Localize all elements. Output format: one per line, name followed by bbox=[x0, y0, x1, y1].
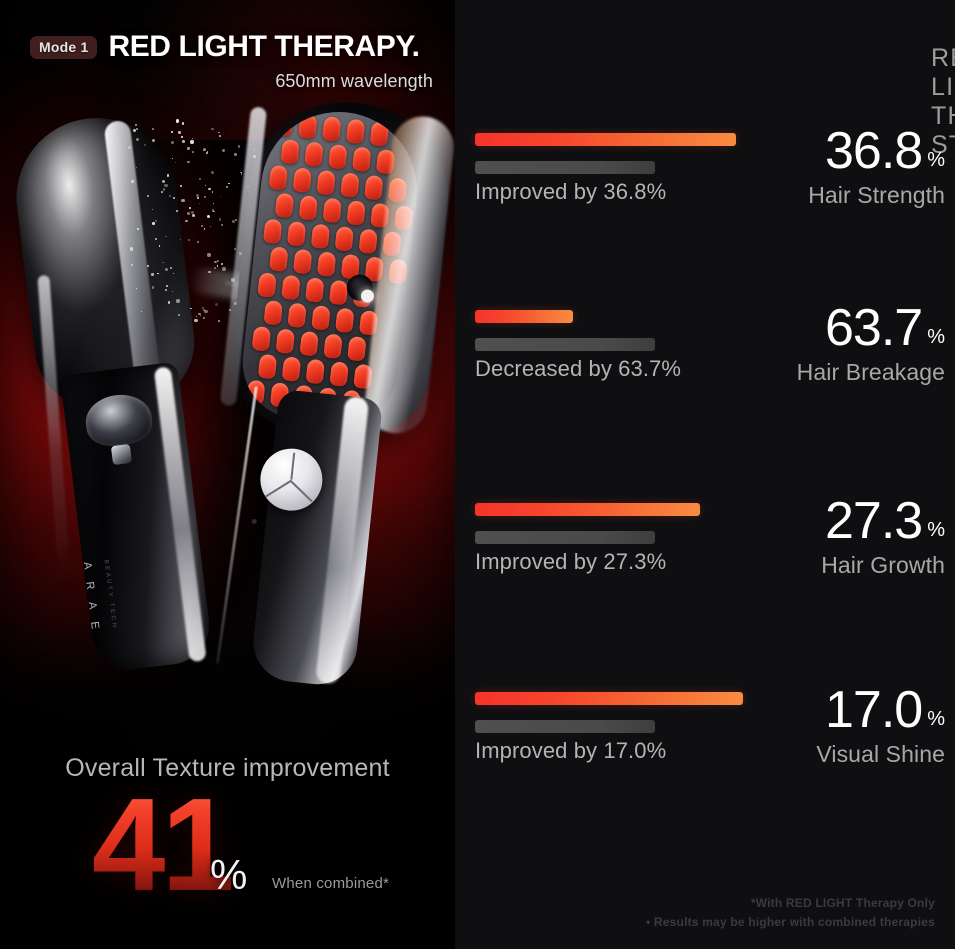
led-bristle bbox=[252, 326, 271, 352]
overall-improvement-note: When combined* bbox=[272, 875, 389, 892]
stat-unit: % bbox=[927, 326, 945, 348]
stat-value-row: 36.8% bbox=[808, 125, 945, 177]
led-bristle bbox=[317, 251, 336, 277]
led-bristle bbox=[274, 111, 293, 137]
device-led-contour-line bbox=[216, 386, 258, 664]
mist-particle bbox=[218, 132, 220, 134]
stat-caption: Improved by 17.0% bbox=[475, 738, 666, 764]
led-bristle bbox=[280, 139, 299, 165]
stat-bar-baseline bbox=[475, 531, 655, 544]
mist-particle bbox=[221, 263, 223, 265]
led-bristle bbox=[304, 141, 323, 167]
stat-value: 27.3 bbox=[825, 492, 922, 550]
led-bristle bbox=[335, 308, 354, 334]
mist-particle bbox=[226, 186, 228, 188]
footnotes: *With RED LIGHT Therapy Only • Results m… bbox=[646, 896, 935, 929]
led-bristle bbox=[346, 119, 365, 145]
stat-label: Hair Strength bbox=[808, 182, 945, 209]
page-title: RED LIGHT THERAPY. bbox=[108, 30, 419, 64]
mist-particle bbox=[205, 185, 206, 186]
mist-particle bbox=[213, 203, 214, 204]
led-bristle bbox=[329, 280, 348, 306]
stat-bar-result bbox=[475, 133, 736, 146]
led-bristle bbox=[282, 356, 301, 382]
led-bristle bbox=[299, 195, 318, 221]
mist-particle bbox=[211, 128, 213, 130]
stat-caption: Improved by 27.3% bbox=[475, 549, 666, 575]
led-bristle bbox=[293, 249, 312, 275]
led-bristle bbox=[305, 277, 324, 303]
stat-bar-baseline bbox=[475, 161, 655, 174]
led-bristle bbox=[264, 300, 283, 326]
led-bristle bbox=[328, 144, 347, 170]
led-bristle bbox=[323, 198, 342, 224]
mist-particle bbox=[208, 188, 210, 190]
stat-value-row: 63.7% bbox=[797, 302, 945, 354]
stat-value: 17.0 bbox=[825, 681, 922, 739]
mist-particle bbox=[214, 261, 216, 263]
footnote-secondary: • Results may be higher with combined th… bbox=[646, 915, 935, 929]
led-bristle bbox=[269, 165, 288, 191]
led-bristle bbox=[322, 116, 341, 142]
product-illustration: A R A E BEAUTY TECH bbox=[0, 95, 455, 665]
led-bristle bbox=[370, 121, 389, 147]
led-bristle bbox=[306, 359, 325, 385]
led-bristle bbox=[269, 246, 288, 272]
stat-unit: % bbox=[927, 708, 945, 730]
stat-label: Visual Shine bbox=[816, 741, 945, 768]
mist-particle bbox=[211, 171, 214, 174]
mist-particle bbox=[222, 149, 225, 152]
mist-particle bbox=[203, 148, 206, 151]
led-bristle bbox=[275, 193, 294, 219]
led-bristle bbox=[311, 224, 330, 250]
led-bristle bbox=[293, 167, 312, 193]
stat-value-block: 17.0%Visual Shine bbox=[816, 684, 945, 768]
led-bristle bbox=[323, 333, 342, 359]
mist-particle bbox=[217, 265, 218, 266]
stat-bar-group bbox=[475, 692, 743, 733]
mist-particle bbox=[234, 153, 237, 156]
mist-particle bbox=[212, 209, 214, 211]
stat-value-row: 27.3% bbox=[821, 495, 945, 547]
stats-panel: RED LIGHT THERAPY STATS Improved by 36.8… bbox=[455, 0, 955, 949]
stat-value: 63.7 bbox=[825, 299, 922, 357]
stat-unit: % bbox=[927, 149, 945, 171]
led-bristle bbox=[257, 272, 276, 298]
device-mist-port bbox=[111, 444, 132, 465]
stat-unit: % bbox=[927, 519, 945, 541]
led-bristle bbox=[340, 172, 359, 198]
mist-particle bbox=[217, 260, 219, 262]
mist-particle bbox=[221, 224, 223, 226]
stat-value-block: 63.7%Hair Breakage bbox=[797, 302, 945, 386]
overall-improvement-unit: % bbox=[210, 851, 247, 899]
led-bristle bbox=[276, 328, 295, 354]
title-row: Mode 1 RED LIGHT THERAPY. bbox=[0, 30, 455, 64]
power-button-spoke-icon bbox=[265, 480, 292, 498]
led-bristle bbox=[281, 275, 300, 301]
mist-particle bbox=[204, 150, 205, 151]
led-bristle bbox=[346, 200, 365, 226]
led-bristle bbox=[298, 114, 317, 140]
mist-particle bbox=[228, 183, 230, 185]
led-bristle bbox=[335, 226, 354, 252]
footnote-primary: *With RED LIGHT Therapy Only bbox=[646, 896, 935, 910]
led-bristle bbox=[347, 336, 366, 362]
stat-label: Hair Growth bbox=[821, 552, 945, 579]
product-header: Mode 1 RED LIGHT THERAPY. 650mm waveleng… bbox=[0, 30, 455, 92]
mist-particle bbox=[207, 151, 208, 152]
led-bristle bbox=[364, 175, 383, 201]
mist-particle bbox=[210, 226, 211, 227]
stat-bar-group bbox=[475, 310, 655, 351]
mist-particle bbox=[218, 320, 220, 322]
led-bristle bbox=[263, 218, 282, 244]
stat-bar-result bbox=[475, 310, 573, 323]
device-led-brush bbox=[188, 84, 455, 696]
device-led-indicator bbox=[252, 519, 257, 524]
led-bristle bbox=[329, 361, 348, 387]
stat-bar-result bbox=[475, 503, 700, 516]
mist-particle bbox=[220, 196, 221, 197]
mist-particle bbox=[219, 218, 221, 220]
led-bristle bbox=[287, 221, 306, 247]
stat-value-row: 17.0% bbox=[816, 684, 945, 736]
mode-badge: Mode 1 bbox=[30, 36, 97, 59]
mist-particle bbox=[212, 191, 214, 193]
stat-caption: Improved by 36.8% bbox=[475, 179, 666, 205]
page-subtitle: 650mm wavelength bbox=[0, 71, 455, 92]
led-bristle bbox=[299, 331, 318, 357]
stat-bar-group bbox=[475, 133, 736, 174]
mist-particle bbox=[204, 196, 206, 198]
stat-value-block: 36.8%Hair Strength bbox=[808, 125, 945, 209]
mist-particle bbox=[213, 211, 215, 213]
mist-particle bbox=[207, 215, 210, 218]
led-bristle bbox=[287, 302, 306, 328]
mist-particle bbox=[238, 145, 241, 148]
stat-label: Hair Breakage bbox=[797, 359, 945, 386]
stat-bar-baseline bbox=[475, 720, 655, 733]
led-bristle bbox=[258, 354, 277, 380]
mist-particle bbox=[206, 152, 208, 154]
led-bristle bbox=[358, 229, 377, 255]
stat-bar-result bbox=[475, 692, 743, 705]
stat-bar-group bbox=[475, 503, 700, 544]
stat-value-block: 27.3%Hair Growth bbox=[821, 495, 945, 579]
infographic-root: A R A E BEAUTY TECH bbox=[0, 0, 955, 949]
led-bristle bbox=[352, 146, 371, 172]
mist-particle bbox=[219, 135, 221, 137]
product-panel: A R A E BEAUTY TECH bbox=[0, 0, 455, 949]
overall-improvement-row: 41 % When combined* bbox=[0, 785, 455, 903]
led-bristle bbox=[316, 170, 335, 196]
stat-caption: Decreased by 63.7% bbox=[475, 356, 681, 382]
overall-improvement-block: Overall Texture improvement 41 % When co… bbox=[0, 754, 455, 903]
stat-value: 36.8 bbox=[825, 122, 922, 180]
led-bristle bbox=[311, 305, 330, 331]
stat-bar-baseline bbox=[475, 338, 655, 351]
